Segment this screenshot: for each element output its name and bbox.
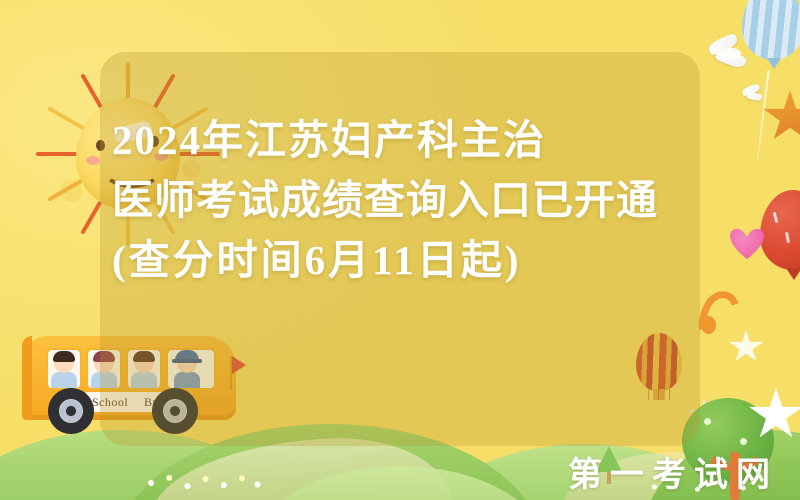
dove-body	[719, 48, 741, 60]
poster-image: School Bus 2024年江苏妇产科主治 医师考试成绩查询入口已开通 (查…	[0, 0, 800, 500]
headline-line-1: 2024年江苏妇产科主治	[112, 110, 712, 170]
site-watermark: 第一考试网	[568, 447, 778, 496]
bus-front-stripe	[22, 336, 32, 420]
white-dove	[708, 36, 752, 70]
page-title: 2024年江苏妇产科主治 医师考试成绩查询入口已开通 (查分时间6月11日起)	[112, 110, 712, 290]
white-dove-small	[742, 86, 764, 100]
bus-window	[46, 348, 82, 390]
headline-line-2: 医师考试成绩查询入口已开通	[112, 170, 712, 230]
bus-wheel	[48, 388, 94, 434]
child-hair	[53, 351, 75, 362]
sun-cheek	[86, 156, 100, 165]
headline-line-3: (查分时间6月11日起)	[112, 230, 712, 290]
daisy-flowers	[138, 470, 268, 496]
